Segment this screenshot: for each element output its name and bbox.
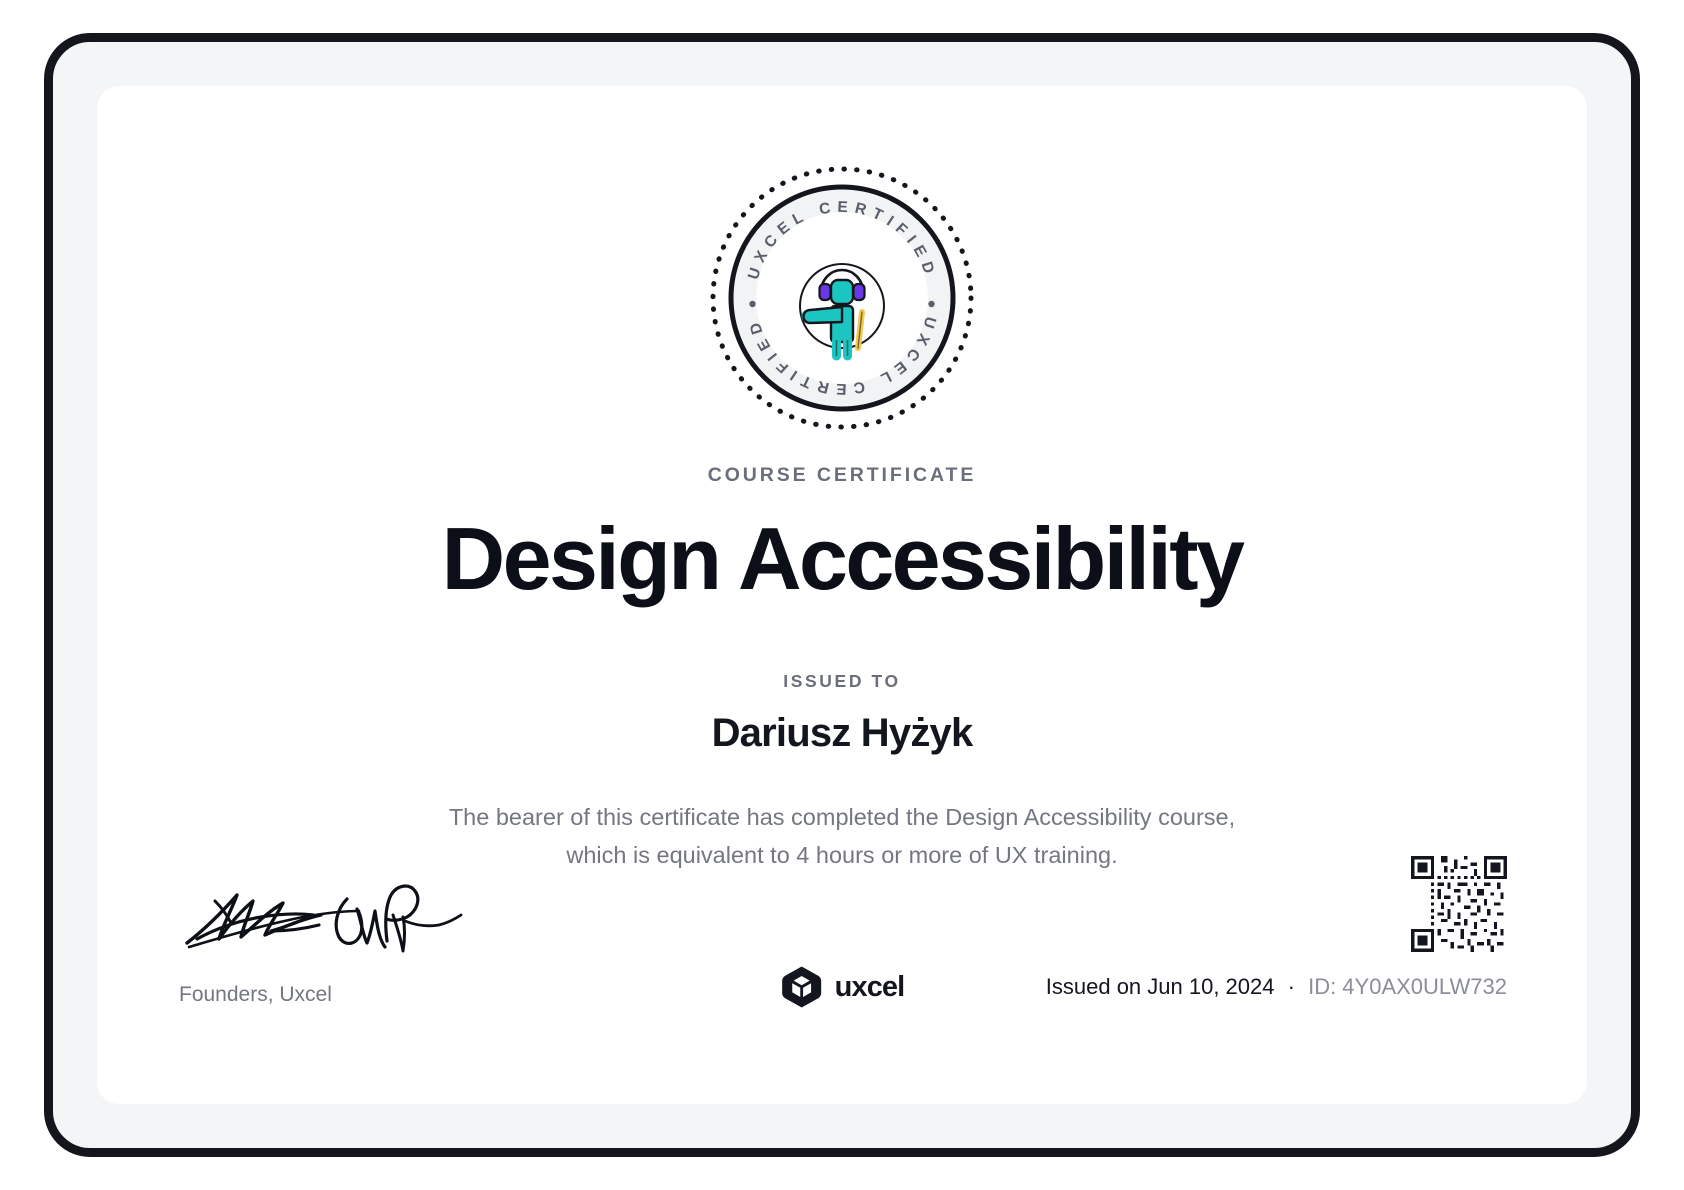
certificate-meta: Issued on Jun 10, 2024 · ID: 4Y0AX0ULW73… — [1046, 974, 1507, 1000]
meta-separator: · — [1288, 974, 1295, 999]
uxcel-brand-logo: uxcel — [780, 965, 905, 1009]
signature-block: Founders, Uxcel — [179, 881, 509, 1007]
certificate-id: ID: 4Y0AX0ULW732 — [1308, 974, 1507, 999]
founder-signatures — [179, 881, 509, 963]
issued-to-label: ISSUED TO — [97, 671, 1587, 692]
qr-code[interactable] — [1411, 856, 1507, 952]
signature-two-icon — [327, 881, 467, 963]
description-line-1: The bearer of this certificate has compl… — [97, 798, 1587, 836]
seal-bullet-left — [749, 301, 755, 307]
uxcel-certified-seal: UXCEL CERTIFIED UXCEL CERTIFIED — [708, 164, 976, 432]
issued-on-date: Issued on Jun 10, 2024 — [1046, 974, 1275, 999]
seal-bullet-right — [928, 301, 934, 307]
founders-label: Founders, Uxcel — [179, 983, 509, 1007]
course-title: Design Accessibility — [97, 513, 1587, 605]
recipient-name: Dariusz Hyżyk — [97, 711, 1587, 756]
certificate-description: The bearer of this certificate has compl… — [97, 798, 1587, 874]
description-line-2: which is equivalent to 4 hours or more o… — [97, 836, 1587, 874]
uxcel-wordmark: uxcel — [835, 971, 905, 1004]
certificate-frame: UXCEL CERTIFIED UXCEL CERTIFIED — [44, 33, 1640, 1157]
course-certificate-kicker: COURSE CERTIFICATE — [97, 464, 1587, 487]
certificate-card: UXCEL CERTIFIED UXCEL CERTIFIED — [97, 86, 1587, 1104]
uxcel-cube-icon — [780, 965, 824, 1009]
